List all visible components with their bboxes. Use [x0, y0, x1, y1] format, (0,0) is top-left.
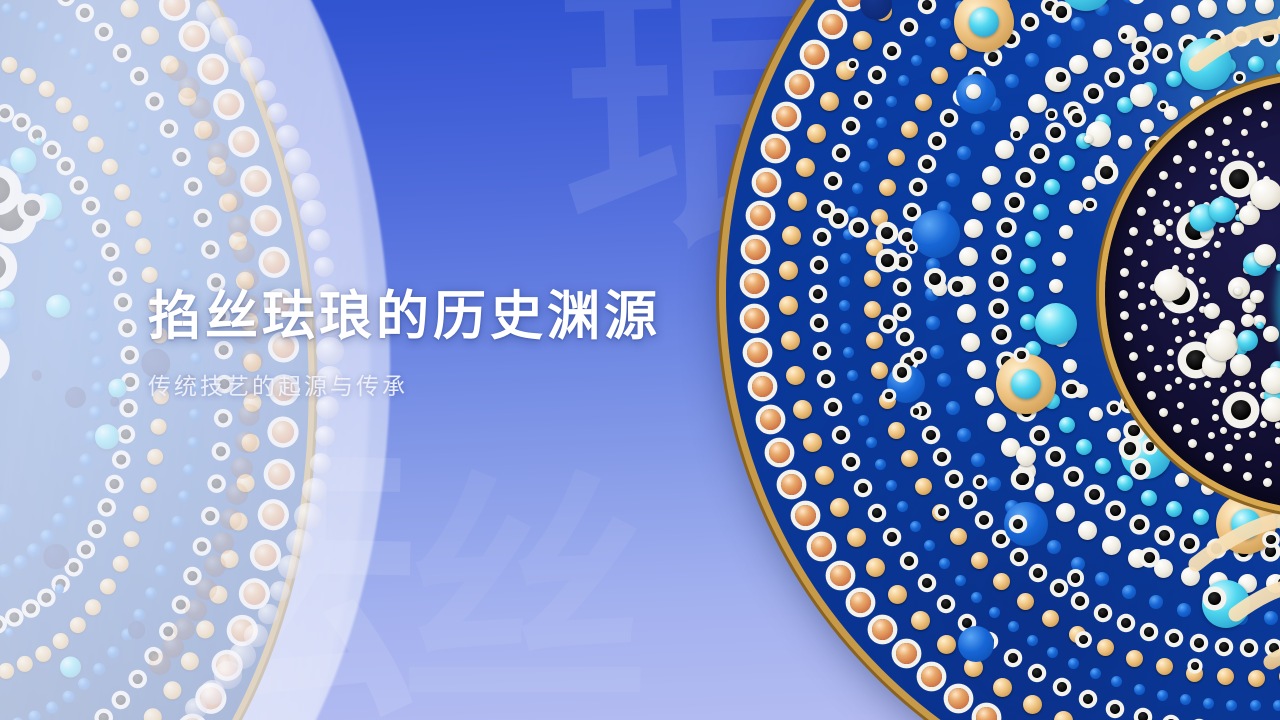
enamel-bead — [1247, 151, 1254, 158]
enamel-bead — [1166, 234, 1173, 241]
enamel-bead — [1188, 140, 1197, 149]
enamel-bead — [1261, 397, 1280, 422]
enamel-bead — [1120, 268, 1129, 277]
enamel-bead — [1225, 444, 1232, 451]
enamel-bead — [1241, 129, 1248, 136]
enamel-bead — [1250, 290, 1263, 303]
enamel-bead — [1175, 377, 1182, 384]
enamel-bead — [1165, 384, 1172, 391]
enamel-bead — [1175, 336, 1182, 343]
enamel-bead — [1276, 264, 1280, 271]
enamel-bead — [1205, 127, 1214, 136]
enamel-bead — [1187, 267, 1194, 274]
enamel-bead — [1212, 414, 1219, 421]
enamel-bead — [1124, 247, 1133, 256]
enamel-bead — [1163, 200, 1170, 207]
enamel-bead — [1205, 452, 1214, 461]
enamel-bead — [1177, 402, 1184, 409]
enamel-bead — [1214, 241, 1221, 248]
enamel-bead — [1243, 107, 1252, 116]
enamel-bead — [1230, 354, 1252, 376]
enamel-bead — [1234, 287, 1242, 295]
enamel-bead — [1129, 227, 1138, 236]
enamel-bead — [1188, 253, 1195, 260]
enamel-bead — [1245, 453, 1252, 460]
enamel-bead — [1204, 303, 1220, 319]
enamel-bead — [1174, 247, 1181, 254]
enamel-bead — [1220, 386, 1227, 393]
page-title: 掐丝珐琅的历史渊源 — [148, 286, 768, 349]
enamel-bead — [1206, 329, 1238, 361]
enamel-bead — [1209, 197, 1235, 223]
enamel-bead — [1172, 318, 1179, 325]
enamel-bead — [1187, 316, 1194, 323]
watermark-glyph-3: 丝 — [400, 470, 650, 720]
enamel-bead — [1258, 161, 1265, 168]
enamel-bead — [1191, 418, 1198, 425]
enamel-bead — [1154, 365, 1161, 372]
title-text-block: 掐丝珐琅的历史渊源 传统技艺的起源与传承 — [148, 286, 768, 401]
enamel-bead — [1119, 290, 1128, 299]
enamel-bead — [1150, 299, 1157, 306]
enamel-bead — [1210, 184, 1217, 191]
enamel-bead — [1188, 200, 1195, 207]
enamel-bead — [1239, 205, 1259, 225]
enamel-bead — [1275, 437, 1280, 444]
enamel-bead — [1159, 408, 1168, 417]
enamel-bead — [1275, 422, 1280, 429]
enamel-bead — [1249, 382, 1256, 389]
enamel-bead — [1199, 277, 1206, 284]
enamel-bead — [1189, 166, 1196, 173]
enamel-bead — [1237, 330, 1258, 351]
enamel-bead — [1137, 207, 1146, 216]
enamel-bead — [1241, 314, 1254, 327]
enamel-bead — [1174, 206, 1181, 213]
enamel-bead — [1159, 312, 1166, 319]
enamel-bead — [1263, 326, 1279, 342]
cloisonne-enamel-plate — [726, 0, 1280, 720]
page-subtitle: 传统技艺的起源与传承 — [148, 367, 768, 401]
enamel-bead — [1166, 219, 1173, 226]
enamel-bead — [1219, 227, 1226, 234]
enamel-bead — [1203, 292, 1210, 299]
medallion-bead-layer — [1105, 79, 1280, 509]
enamel-bead — [1173, 155, 1182, 164]
enamel-bead — [1234, 380, 1241, 387]
enamel-bead — [1137, 372, 1146, 381]
enamel-bead — [1138, 303, 1145, 310]
enamel-bead — [1223, 463, 1232, 472]
enamel-bead — [1208, 432, 1215, 439]
enamel-bead — [1256, 322, 1264, 330]
enamel-bead — [1231, 400, 1251, 420]
enamel-bead — [1129, 352, 1138, 361]
enamel-bead — [1220, 427, 1227, 434]
enamel-bead — [1265, 461, 1272, 468]
enamel-bead — [1254, 244, 1276, 266]
enamel-bead — [1189, 330, 1196, 337]
enamel-bead — [1218, 156, 1225, 163]
enamel-bead — [1120, 311, 1129, 320]
enamel-bead — [1223, 116, 1232, 125]
enamel-bead — [1263, 101, 1272, 110]
enamel-bead — [1141, 324, 1148, 331]
gold-swirl — [1236, 584, 1280, 688]
enamel-bead — [1231, 222, 1243, 234]
enamel-bead — [1261, 121, 1268, 128]
enamel-bead — [1204, 381, 1211, 388]
enamel-bead — [1232, 149, 1239, 156]
enamel-bead — [1205, 151, 1212, 158]
enamel-bead — [1141, 260, 1148, 267]
enamel-bead — [1154, 224, 1167, 237]
enamel-bead — [1261, 367, 1280, 394]
title-slide: 琅 珐 丝 掐丝珐琅的历史渊源 传统技艺的起源与传承 — [0, 0, 1280, 720]
enamel-bead — [1249, 431, 1256, 438]
center-medallion — [1105, 79, 1280, 509]
enamel-bead — [1250, 179, 1280, 210]
enamel-bead — [1138, 282, 1145, 289]
enamel-bead — [1263, 478, 1272, 487]
enamel-bead — [1203, 251, 1210, 258]
enamel-bead — [1188, 439, 1197, 448]
enamel-bead — [1124, 332, 1133, 341]
enamel-bead — [1167, 364, 1174, 371]
enamel-bead — [1175, 182, 1182, 189]
enamel-bead — [1212, 399, 1219, 406]
enamel-bead — [1147, 345, 1154, 352]
enamel-bead — [1222, 139, 1229, 146]
gold-swirl — [1271, 646, 1280, 666]
enamel-bead — [1159, 171, 1168, 180]
enamel-bead — [1146, 239, 1153, 246]
enamel-bead — [1147, 391, 1156, 400]
enamel-bead — [1173, 424, 1182, 433]
enamel-bead — [1260, 421, 1267, 428]
enamel-bead — [1234, 433, 1241, 440]
enamel-bead — [1167, 349, 1174, 356]
enamel-bead — [1189, 383, 1196, 390]
enamel-bead — [1147, 188, 1156, 197]
enamel-bead — [1243, 472, 1252, 481]
enamel-bead — [1210, 168, 1217, 175]
